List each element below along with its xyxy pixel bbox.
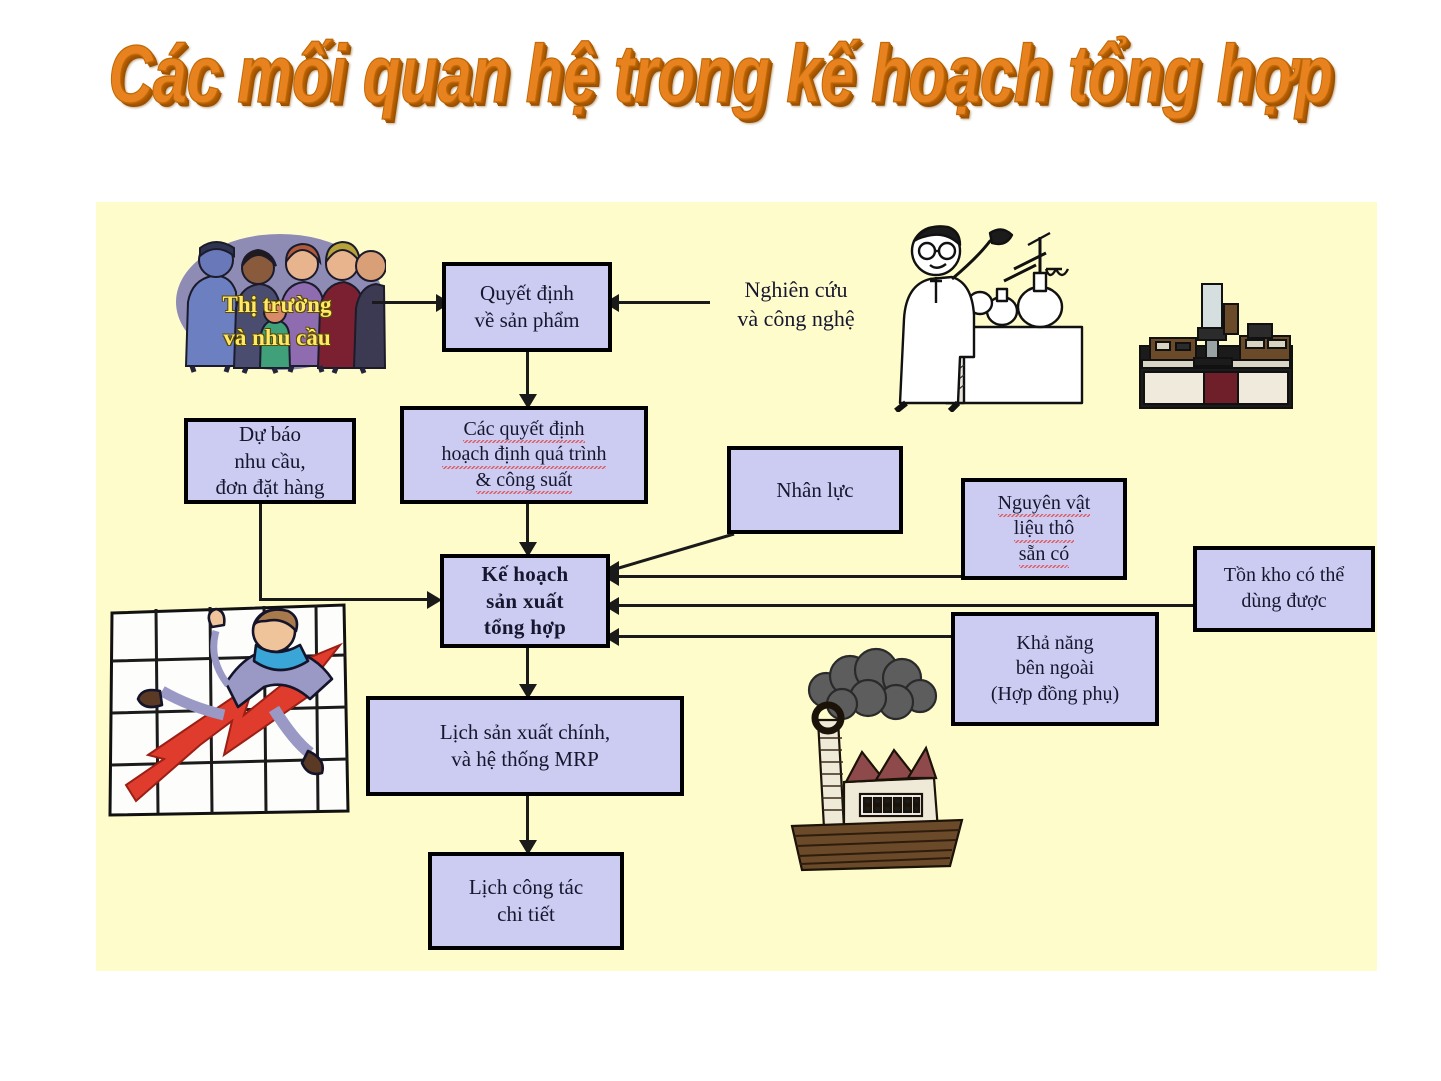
page-title: Các mối quan hệ trong kế hoạch tổng hợp <box>108 28 1332 122</box>
label-research-and-technology: Nghiên cứu và công nghệ <box>696 276 896 333</box>
external-capacity-line-3: (Hợp đồng phụ) <box>991 683 1119 705</box>
title-bar: Các mối quan hệ trong kế hoạch tổng hợp <box>0 28 1441 99</box>
forecast-line-3: đơn đặt hàng <box>215 475 324 499</box>
edge-workforce-to-aggregate <box>606 532 736 574</box>
forecast-line-2: nhu cầu, <box>234 449 305 473</box>
businessman-declining-arrow-chart-clipart <box>104 587 352 822</box>
external-capacity-line-2: bên ngoài <box>1016 657 1094 679</box>
node-product-decision[interactable]: Quyết định về sản phẩm <box>442 262 612 352</box>
market-line-2: và nhu cầu <box>223 325 330 350</box>
detail-schedule-line-1: Lịch công tác <box>469 875 583 899</box>
edge-forecast-horizontal <box>259 598 431 601</box>
node-available-inventory[interactable]: Tồn kho có thể dùng được <box>1193 546 1375 632</box>
inventory-line-1: Tồn kho có thể <box>1224 564 1345 586</box>
aggregate-plan-line-1: Kế hoạch <box>482 562 569 586</box>
external-capacity-line-1: Khả năng <box>1016 632 1093 654</box>
microscope-bench-clipart <box>1136 280 1296 412</box>
node-external-capacity[interactable]: Khả năng bên ngoài (Hợp đồng phụ) <box>951 612 1159 726</box>
process-decisions-line-1: Các quyết định <box>463 417 584 443</box>
raw-materials-line-1: Nguyên vật <box>998 491 1091 517</box>
process-decisions-line-2: hoạch định quá trình <box>442 442 607 468</box>
edge-forecast-vertical <box>259 502 262 600</box>
crowd-of-people-clipart: Thị trường và nhu cầu <box>168 216 386 374</box>
edge-external-capacity-to-aggregate <box>616 635 951 638</box>
node-detailed-work-schedule[interactable]: Lịch công tác chi tiết <box>428 852 624 950</box>
inventory-line-2: dùng được <box>1241 590 1326 612</box>
edge-raw-materials-to-aggregate <box>616 575 961 578</box>
node-process-capacity-decisions[interactable]: Các quyết định hoạch định quá trình & cô… <box>400 406 648 504</box>
edge-research-to-product-decision <box>610 301 710 304</box>
edge-inventory-to-aggregate <box>616 604 1193 607</box>
workforce-label: Nhân lực <box>776 477 853 504</box>
node-master-production-schedule[interactable]: Lịch sản xuất chính, và hệ thống MRP <box>366 696 684 796</box>
research-line-1: Nghiên cứu <box>745 277 848 302</box>
aggregate-plan-line-3: tổng hợp <box>484 615 566 639</box>
smoking-factory-clipart <box>784 642 974 874</box>
process-decisions-line-3: & công suất <box>476 468 573 494</box>
product-decision-line-2: về sản phẩm <box>475 308 580 332</box>
aggregate-plan-line-2: sản xuất <box>486 589 564 613</box>
diagram-canvas: Thị trường và nhu cầu <box>96 202 1377 971</box>
forecast-line-1: Dự báo <box>239 422 301 446</box>
master-schedule-line-1: Lịch sản xuất chính, <box>440 720 610 744</box>
node-aggregate-production-plan[interactable]: Kế hoạch sản xuất tổng hợp <box>440 554 610 648</box>
scientist-laboratory-clipart <box>886 207 1136 412</box>
product-decision-line-1: Quyết định <box>480 281 574 305</box>
market-line-1: Thị trường <box>223 292 332 317</box>
master-schedule-line-2: và hệ thống MRP <box>451 747 599 771</box>
detail-schedule-line-2: chi tiết <box>497 902 555 926</box>
research-line-2: và công nghệ <box>737 306 854 331</box>
node-demand-forecast[interactable]: Dự báo nhu cầu, đơn đặt hàng <box>184 418 356 504</box>
raw-materials-line-3: sẵn có <box>1019 542 1070 568</box>
raw-materials-line-2: liệu thô <box>1014 516 1075 542</box>
node-workforce[interactable]: Nhân lực <box>727 446 903 534</box>
node-raw-materials[interactable]: Nguyên vật liệu thô sẵn có <box>961 478 1127 580</box>
market-overlay-label: Thị trường và nhu cầu <box>168 288 386 355</box>
edge-market-to-product-decision <box>372 301 438 304</box>
